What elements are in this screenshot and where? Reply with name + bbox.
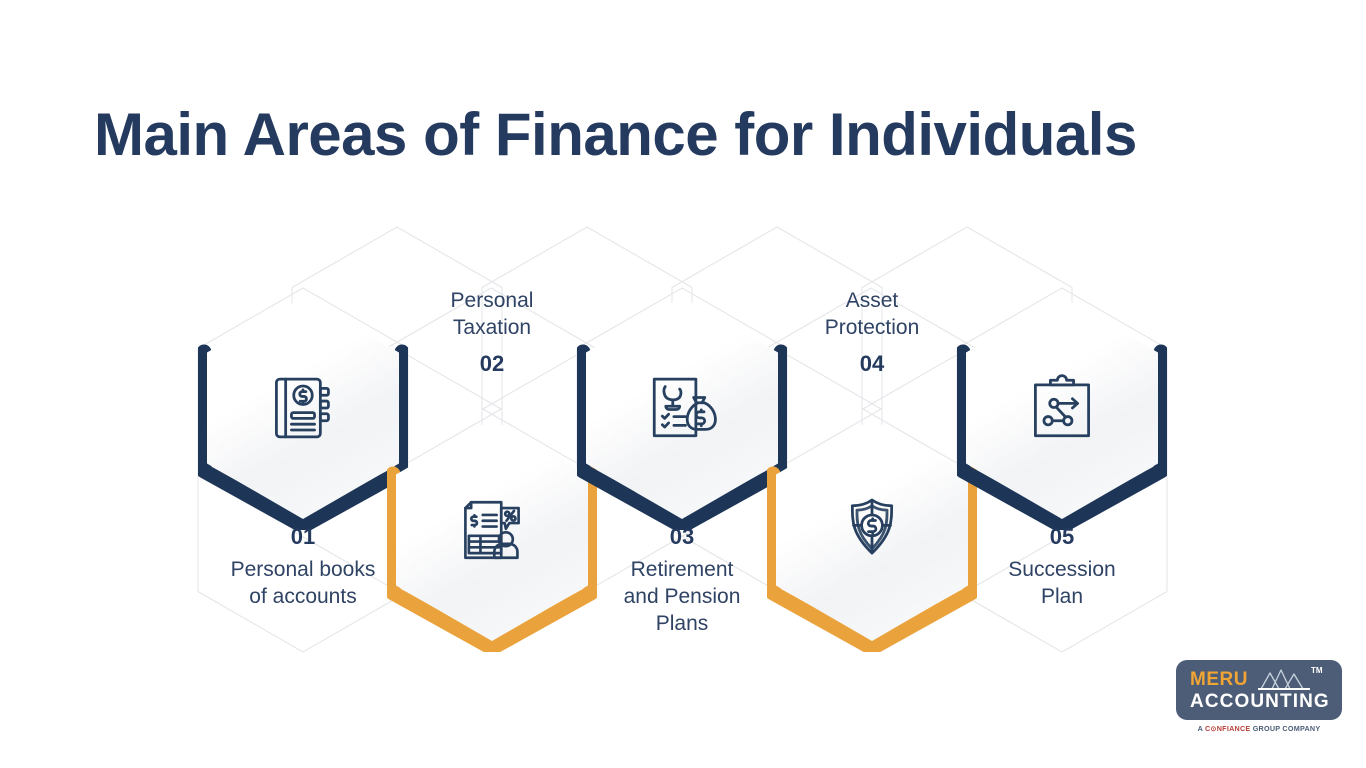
item-label-04: Asset Protection xyxy=(757,288,987,342)
caption-03: 03 Retirement and Pension Plans xyxy=(567,525,797,638)
hexagon-items-layer: 01 Personal books of accounts xyxy=(0,0,1366,768)
logo-brand-meru: MERU xyxy=(1190,669,1248,691)
mountain-peaks-icon xyxy=(1258,668,1306,690)
item-number-04: 04 xyxy=(757,352,987,376)
item-label-03: Retirement and Pension Plans xyxy=(567,557,797,638)
tax-document-percent-icon xyxy=(455,493,529,567)
item-number-02: 02 xyxy=(377,352,607,376)
logo-tagline: A C⊙NFIANCE GROUP COMPANY xyxy=(1176,724,1342,733)
hex-item-05[interactable] xyxy=(957,288,1167,530)
item-label-01: Personal books of accounts xyxy=(188,557,418,611)
item-number-03: 03 xyxy=(567,525,797,549)
clipboard-flowchart-icon xyxy=(1025,371,1099,445)
hex-item-04[interactable] xyxy=(767,410,977,652)
item-label-02: Personal Taxation xyxy=(377,288,607,342)
logo-tagline-suffix: GROUP COMPANY xyxy=(1250,724,1320,733)
item-label-05: Succession Plan xyxy=(947,557,1177,611)
brand-logo[interactable]: MERU TM ACCOUNTING A C⊙NFIANCE GROUP COM… xyxy=(1176,660,1342,744)
ledger-book-dollar-icon xyxy=(266,371,340,445)
logo-tagline-prefix: A xyxy=(1198,724,1205,733)
item-number-01: 01 xyxy=(188,525,418,549)
item-number-05: 05 xyxy=(947,525,1177,549)
caption-05: 05 Succession Plan xyxy=(947,525,1177,611)
hex-item-02[interactable] xyxy=(387,410,597,652)
logo-brand-accounting: ACCOUNTING xyxy=(1190,691,1330,713)
hex-item-03[interactable] xyxy=(577,288,787,530)
caption-01: 01 Personal books of accounts xyxy=(188,525,418,611)
infographic-canvas: Main Areas of Finance for Individuals xyxy=(0,0,1366,768)
logo-tagline-brand: C⊙NFIANCE xyxy=(1205,724,1250,733)
retirement-chair-moneybag-icon xyxy=(645,371,719,445)
logo-underline-rule xyxy=(1258,688,1310,690)
caption-02: Personal Taxation 02 xyxy=(377,288,607,376)
logo-trademark: TM xyxy=(1311,666,1323,675)
caption-04: Asset Protection 04 xyxy=(757,288,987,376)
shield-dollar-icon xyxy=(835,493,909,567)
